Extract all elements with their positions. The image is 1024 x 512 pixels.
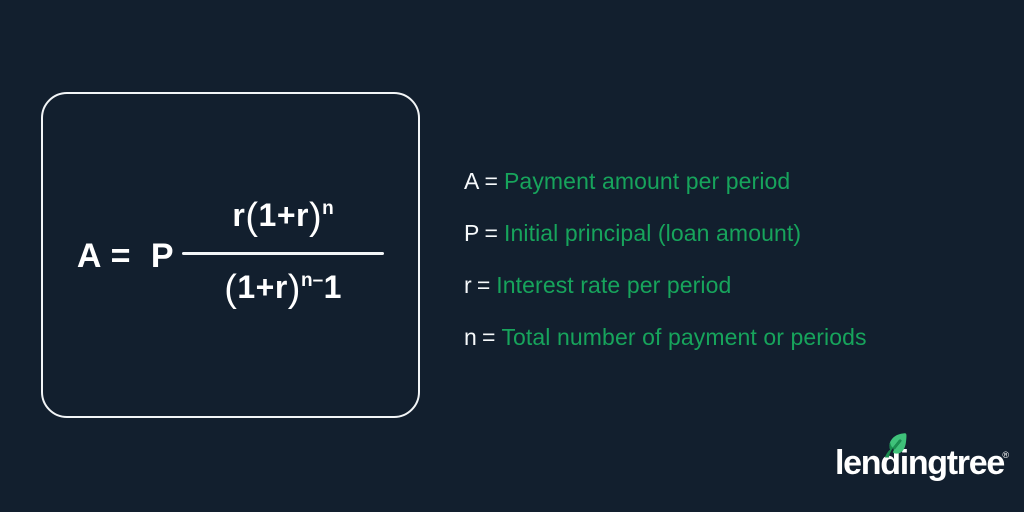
legend-description-p: Initial principal (loan amount) (504, 220, 801, 247)
legend-item-n: n = Total number of payment or periods (464, 311, 867, 363)
legend-description-r: Interest rate per period (496, 272, 731, 299)
legend-item-a: A = Payment amount per period (464, 155, 867, 207)
leaf-icon (883, 432, 907, 458)
legend-symbol-n: n (464, 324, 477, 351)
legend-description-n: Total number of payment or periods (501, 324, 866, 351)
variable-legend: A = Payment amount per period P = Initia… (464, 155, 867, 363)
legend-item-p: P = Initial principal (loan amount) (464, 207, 867, 259)
denominator-trailing-one: 1 (324, 269, 342, 305)
denominator-minus: – (313, 270, 324, 291)
legend-description-a: Payment amount per period (504, 168, 790, 195)
legend-equals-p: = (485, 220, 498, 247)
formula-left-hand-side: A = P (77, 237, 174, 276)
legend-equals-a: = (485, 168, 498, 195)
numerator-close-paren: ) (309, 196, 322, 238)
numerator-one: 1 (259, 197, 277, 233)
denominator-close-paren: ) (288, 268, 301, 310)
formula-card: A = P r(1+r)n (1+r)n–1 (41, 92, 420, 418)
amortization-formula: A = P r(1+r)n (1+r)n–1 (43, 94, 418, 416)
numerator-exponent: n (322, 198, 334, 219)
logo-wordmark: lendingtree (835, 446, 1004, 480)
lendingtree-logo: lendingtree ® (835, 432, 1007, 482)
numerator-rate: r (232, 197, 245, 233)
registered-trademark-icon: ® (1002, 451, 1009, 460)
denominator-plus: + (256, 269, 275, 305)
legend-equals-n: = (482, 324, 495, 351)
formula-numerator: r(1+r)n (228, 198, 337, 236)
numerator-rate-2: r (296, 197, 309, 233)
denominator-one: 1 (237, 269, 255, 305)
fraction-bar (182, 252, 384, 255)
legend-symbol-r: r (464, 272, 472, 299)
legend-equals-r: = (477, 272, 490, 299)
legend-symbol-a: A (464, 168, 480, 195)
legend-item-r: r = Interest rate per period (464, 259, 867, 311)
denominator-exponent: n (301, 270, 313, 291)
legend-symbol-p: P (464, 220, 480, 247)
denominator-rate: r (275, 269, 288, 305)
numerator-open-paren: ( (245, 196, 258, 238)
numerator-plus: + (277, 197, 296, 233)
denominator-open-paren: ( (224, 268, 237, 310)
formula-denominator: (1+r)n–1 (220, 270, 346, 308)
formula-fraction: r(1+r)n (1+r)n–1 (182, 198, 384, 308)
